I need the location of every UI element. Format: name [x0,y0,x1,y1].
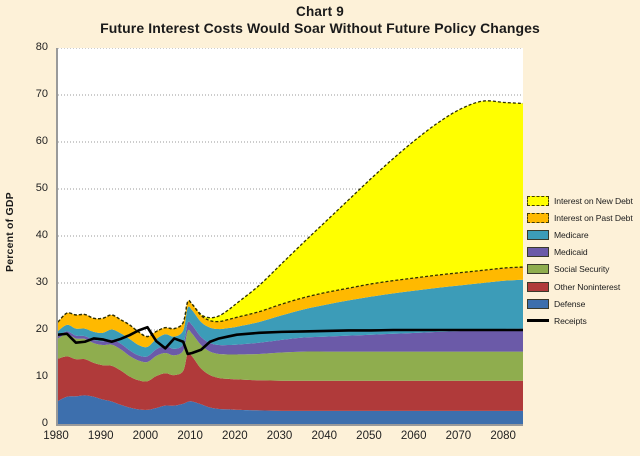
legend-item-medicaid[interactable]: Medicaid [527,244,639,261]
legend-label: Other Noninterest [554,282,620,292]
y-axis-ticks: 01020304050607080 [10,0,48,456]
legend-swatch [527,264,549,274]
legend-swatch [527,230,549,240]
chart-title-block: Chart 9 Future Interest Costs Would Soar… [0,4,640,37]
chart-title-line2: Future Interest Costs Would Soar Without… [0,20,640,37]
legend-swatch [527,282,549,292]
legend-label: Interest on New Debt [554,196,633,206]
legend-label: Medicaid [554,247,588,257]
y-tick-label: 70 [14,88,48,100]
legend-label: Interest on Past Debt [554,213,633,223]
y-tick-label: 80 [14,41,48,53]
legend-item-defense[interactable]: Defense [527,295,639,312]
y-tick-label: 50 [14,182,48,194]
legend-item-interest-on-past-debt[interactable]: Interest on Past Debt [527,209,639,226]
chart-title-line1: Chart 9 [0,4,640,20]
chart-legend: Interest on New DebtInterest on Past Deb… [527,192,639,330]
x-tick-label: 2080 [473,430,533,442]
chart-canvas [58,48,523,424]
y-tick-label: 30 [14,276,48,288]
y-tick-label: 20 [14,323,48,335]
legend-item-interest-on-new-debt[interactable]: Interest on New Debt [527,192,639,209]
y-tick-label: 60 [14,135,48,147]
legend-item-receipts[interactable]: Receipts [527,312,639,329]
y-tick-label: 0 [14,417,48,429]
chart-container: Chart 9 Future Interest Costs Would Soar… [0,0,640,456]
legend-label: Defense [554,299,585,309]
legend-swatch [527,247,549,257]
y-tick-label: 40 [14,229,48,241]
legend-label: Social Security [554,264,609,274]
legend-swatch [527,196,549,206]
legend-swatch [527,319,549,322]
legend-label: Receipts [554,316,587,326]
y-tick-label: 10 [14,370,48,382]
plot-area [56,48,523,426]
legend-swatch [527,213,549,223]
legend-item-other-noninterest[interactable]: Other Noninterest [527,278,639,295]
legend-item-medicare[interactable]: Medicare [527,226,639,243]
legend-item-social-security[interactable]: Social Security [527,261,639,278]
legend-swatch [527,299,549,309]
legend-label: Medicare [554,230,589,240]
